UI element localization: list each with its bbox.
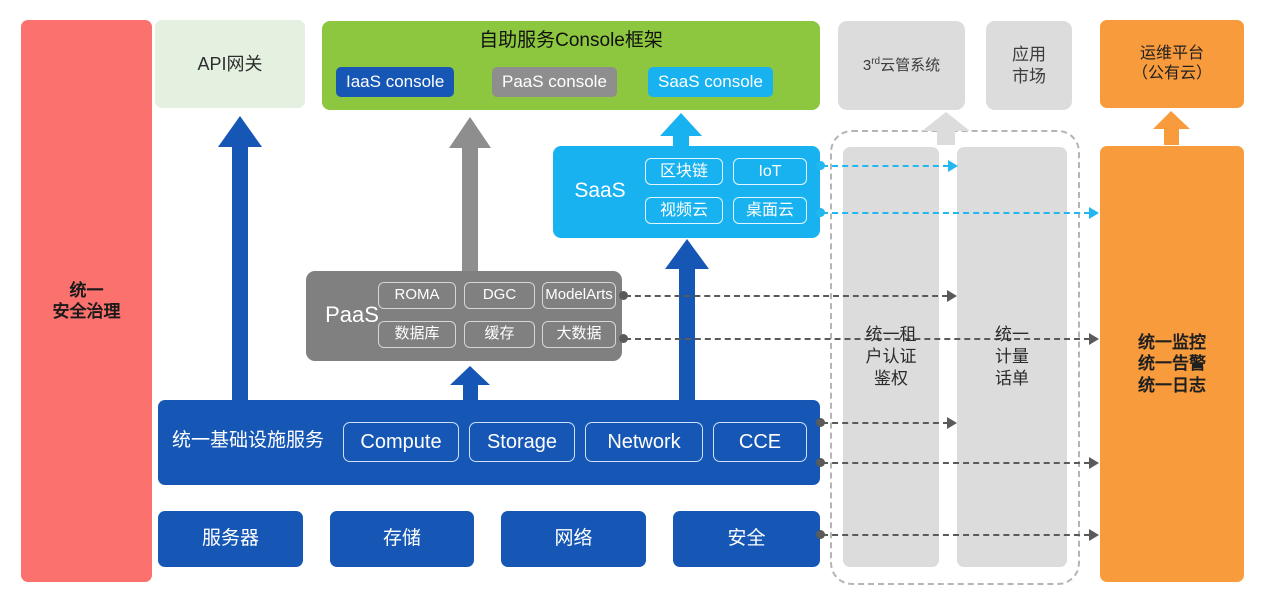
- saas-item-iot-label: IoT: [758, 162, 781, 182]
- third-party-cloud-management-box[interactable]: 3rd云管系统: [838, 21, 965, 110]
- paas-console-pill[interactable]: PaaS console: [492, 67, 617, 97]
- arrow-right-icon-saas-to-ops: [1089, 207, 1099, 219]
- unified-metering-line2: 计量: [995, 346, 1029, 368]
- saas-item-blockchain-label: 区块链: [660, 162, 708, 182]
- infra-item-network-label: Network: [607, 430, 680, 455]
- paas-item-dgc[interactable]: DGC: [464, 282, 535, 309]
- paas-item-cache-label: 缓存: [484, 325, 514, 344]
- paas-item-bigdata-label: 大数据: [556, 325, 601, 344]
- self-service-console-frame[interactable]: 自助服务Console框架 IaaS console PaaS console …: [322, 21, 820, 110]
- unified-infrastructure-bar[interactable]: 统一基础设施服务 Compute Storage Network CCE: [158, 400, 820, 485]
- infra-item-network[interactable]: Network: [585, 422, 703, 462]
- unified-tenant-auth-column[interactable]: 统一租 户认证 鉴权: [843, 147, 939, 567]
- unified-metering-column[interactable]: 统一 计量 话单: [957, 147, 1067, 567]
- infra-item-storage[interactable]: Storage: [469, 422, 575, 462]
- console-frame-title: 自助服务Console框架: [322, 29, 820, 53]
- dashed-line-infra-to-auth: [822, 422, 949, 424]
- ops-platform-line1: 运维平台: [1132, 44, 1212, 64]
- unified-tenant-auth-line3: 鉴权: [866, 368, 917, 390]
- api-gateway-box[interactable]: API网关: [155, 20, 305, 108]
- hardware-item-network-label: 网络: [554, 527, 592, 551]
- third-party-cloud-label: 3rd云管系统: [863, 56, 940, 76]
- security-governance-line1: 统一: [53, 280, 121, 301]
- ops-platform-line2: （公有云）: [1132, 64, 1212, 84]
- saas-item-video-cloud-label: 视频云: [660, 201, 708, 221]
- third-party-cloud-sup: rd: [871, 56, 880, 67]
- dashed-line-saas-to-ops: [822, 212, 1090, 214]
- dashed-line-infra-to-ops: [822, 462, 1090, 464]
- hardware-item-security-label: 安全: [727, 527, 765, 551]
- hardware-item-storage-label: 存储: [383, 527, 421, 551]
- saas-item-blockchain[interactable]: 区块链: [645, 158, 723, 185]
- hardware-item-server[interactable]: 服务器: [158, 511, 303, 567]
- hardware-item-storage[interactable]: 存储: [330, 511, 474, 567]
- arrow-up-icon-infra-to-paas: [450, 366, 490, 401]
- unified-tenant-auth-line1: 统一租: [866, 324, 917, 346]
- dashed-line-hardware-to-ops: [822, 534, 1090, 536]
- dashed-line-paas-to-auth: [625, 295, 948, 297]
- paas-item-roma[interactable]: ROMA: [378, 282, 456, 309]
- paas-item-dgc-label: DGC: [483, 286, 516, 305]
- dashed-line-saas-to-metering: [822, 165, 949, 167]
- saas-item-iot[interactable]: IoT: [733, 158, 807, 185]
- paas-item-cache[interactable]: 缓存: [464, 321, 535, 348]
- arrow-right-icon-saas-to-metering: [948, 160, 958, 172]
- saas-item-desktop-cloud[interactable]: 桌面云: [733, 197, 807, 224]
- arrow-up-icon-infra-to-saas: [665, 239, 709, 401]
- third-party-cloud-prefix: 3: [863, 57, 871, 74]
- arrow-right-icon-paas-to-auth: [947, 290, 957, 302]
- paas-item-database[interactable]: 数据库: [378, 321, 456, 348]
- paas-label: PaaS: [316, 301, 388, 329]
- saas-item-desktop-cloud-label: 桌面云: [746, 201, 794, 221]
- security-governance-line2: 安全治理: [53, 301, 121, 322]
- infra-item-cce-label: CCE: [739, 430, 781, 455]
- api-gateway-label: API网关: [197, 53, 262, 76]
- unified-monitoring-panel[interactable]: 统一监控 统一告警 统一日志: [1100, 146, 1244, 582]
- unified-metering-line3: 话单: [995, 368, 1029, 390]
- infra-item-compute[interactable]: Compute: [343, 422, 459, 462]
- paas-box[interactable]: PaaS ROMA DGC ModelArts 数据库 缓存 大数据: [306, 271, 622, 361]
- paas-console-label: PaaS console: [502, 71, 607, 92]
- arrow-up-icon-infra-to-api: [218, 116, 262, 401]
- arrow-right-icon-hardware-to-ops: [1089, 529, 1099, 541]
- app-market-line2: 市场: [1012, 66, 1046, 87]
- unified-infrastructure-label: 统一基础设施服务: [172, 429, 324, 453]
- arrow-right-icon-infra-to-auth: [947, 417, 957, 429]
- saas-console-label: SaaS console: [658, 71, 763, 92]
- iaas-console-label: IaaS console: [346, 71, 444, 92]
- paas-item-database-label: 数据库: [394, 325, 439, 344]
- saas-box[interactable]: SaaS 区块链 IoT 视频云 桌面云: [553, 146, 820, 238]
- ops-platform-box[interactable]: 运维平台 （公有云）: [1100, 20, 1244, 108]
- arrow-right-icon-paas-to-ops: [1089, 333, 1099, 345]
- paas-item-roma-label: ROMA: [395, 286, 440, 305]
- saas-label: SaaS: [565, 178, 635, 204]
- unified-metering-line1: 统一: [995, 324, 1029, 346]
- app-market-box[interactable]: 应用 市场: [986, 21, 1072, 110]
- arrow-up-icon-saas-to-console: [660, 113, 702, 148]
- security-governance-panel[interactable]: 统一 安全治理: [21, 20, 152, 582]
- paas-item-modelarts[interactable]: ModelArts: [542, 282, 616, 309]
- infra-item-storage-label: Storage: [487, 430, 557, 455]
- third-party-cloud-suffix: 云管系统: [880, 57, 940, 74]
- paas-item-bigdata[interactable]: 大数据: [542, 321, 616, 348]
- paas-item-modelarts-label: ModelArts: [545, 286, 613, 305]
- unified-monitoring-line1: 统一监控: [1138, 332, 1206, 353]
- hardware-item-network[interactable]: 网络: [501, 511, 646, 567]
- hardware-item-security[interactable]: 安全: [673, 511, 820, 567]
- unified-tenant-auth-line2: 户认证: [866, 346, 917, 368]
- unified-monitoring-line2: 统一告警: [1138, 353, 1206, 374]
- infra-item-cce[interactable]: CCE: [713, 422, 807, 462]
- infra-item-compute-label: Compute: [360, 430, 441, 455]
- saas-item-video-cloud[interactable]: 视频云: [645, 197, 723, 224]
- app-market-line1: 应用: [1012, 44, 1046, 65]
- arrow-up-icon-to-ops-platform: [1153, 111, 1190, 145]
- iaas-console-pill[interactable]: IaaS console: [336, 67, 454, 97]
- arrow-right-icon-infra-to-ops: [1089, 457, 1099, 469]
- saas-console-pill[interactable]: SaaS console: [648, 67, 773, 97]
- arrow-up-icon-paas-to-console: [449, 117, 491, 271]
- unified-monitoring-line3: 统一日志: [1138, 375, 1206, 396]
- hardware-item-server-label: 服务器: [202, 527, 259, 551]
- architecture-diagram: 统一 安全治理 API网关 自助服务Console框架 IaaS console…: [0, 0, 1265, 605]
